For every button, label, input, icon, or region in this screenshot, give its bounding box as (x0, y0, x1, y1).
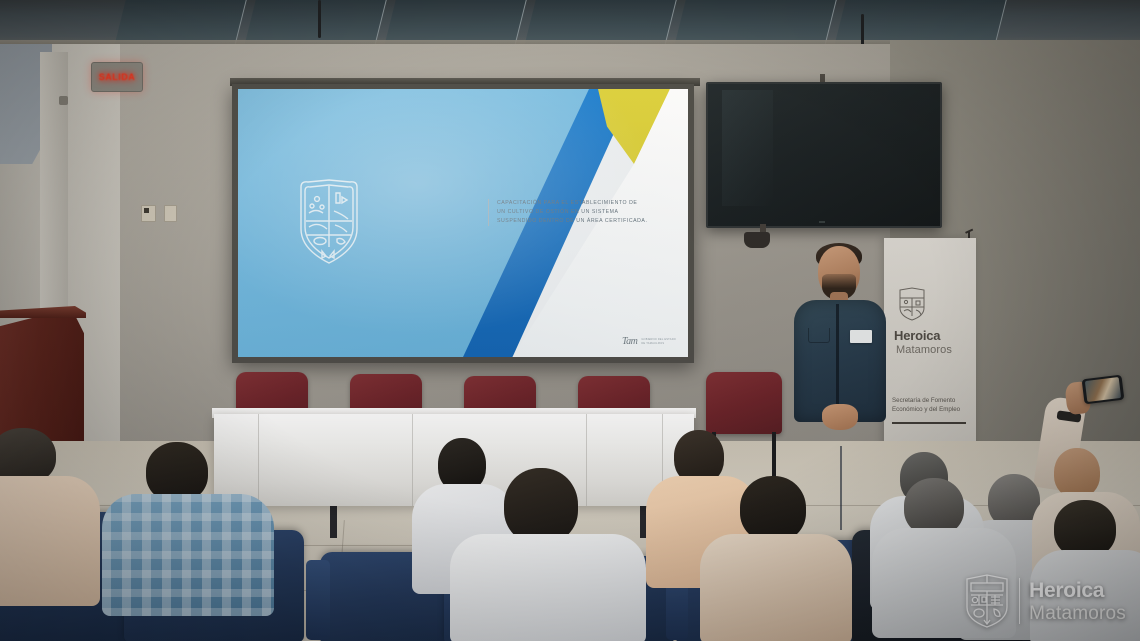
wall-switch-icon (164, 205, 177, 222)
presenter (790, 246, 894, 536)
tablecloth-fold (258, 414, 259, 506)
seat-armrest (306, 560, 330, 640)
audience-head (146, 442, 208, 502)
tv-screen-glare (722, 90, 773, 206)
watermark-subtitle: Matamoros (1029, 604, 1126, 623)
tablecloth-fold (586, 414, 587, 506)
watermark-divider (1019, 578, 1020, 624)
audience-head (740, 476, 806, 542)
banner-department-line-2: Económico y del Empleo (892, 406, 960, 413)
presenter-clasped-hands (822, 404, 858, 430)
presenter-trouser-seam (840, 446, 842, 530)
slide-title-block: CAPACITACIÓN PARA EL ESTABLECIMIENTO DE … (488, 199, 679, 226)
slide-title-line-1: CAPACITACIÓN PARA EL ESTABLECIMIENTO DE (497, 199, 679, 208)
slide-logo-wordmark: Tam (622, 336, 637, 347)
tamaulipas-coat-of-arms-icon (296, 177, 362, 267)
smartphone-screen (1085, 377, 1121, 402)
audience-head (1054, 448, 1100, 498)
banner-department-line-1: Secretaría de Fomento (892, 397, 955, 404)
presenter-shirt-placket (836, 304, 839, 416)
presentation-slide: CAPACITACIÓN PARA EL ESTABLECIMIENTO DE … (238, 89, 688, 357)
slide-logo-caption: GOBIERNO DEL ESTADO DE TAMAULIPAS (641, 338, 676, 346)
wall-mounted-tv (706, 82, 942, 228)
matamoros-shield-icon (964, 573, 1010, 629)
tablecloth-fold (412, 414, 413, 506)
banner-title: Heroica (894, 328, 940, 343)
head-table-chair (706, 372, 782, 434)
banner-department: Secretaría de Fomento Económico y del Em… (892, 396, 972, 415)
slide-title-line-3: SUSPENDIDO DENTRO DE UN ÁREA CERTIFICADA… (497, 217, 679, 226)
watermark-title: Heroica (1029, 580, 1126, 601)
slide-logo-caption-line-2: DE TAMAULIPAS (641, 342, 664, 345)
presentation-photo: SALIDA (0, 0, 1140, 641)
slide-government-logo: Tam GOBIERNO DEL ESTADO DE TAMAULIPAS (622, 336, 676, 347)
ceiling-cable (318, 0, 321, 38)
exit-sign-label: SALIDA (95, 66, 139, 88)
exit-sign: SALIDA (91, 62, 143, 92)
audience-head (504, 468, 578, 544)
audience-plaid-shirt (102, 494, 274, 616)
heroica-matamoros-watermark: Heroica Matamoros (964, 573, 1126, 629)
wall-outlet-icon (141, 205, 156, 222)
podium (0, 308, 84, 448)
audience-torso (450, 534, 646, 641)
banner-divider (892, 422, 966, 424)
presenter-name-badge (850, 330, 872, 343)
banner-subtitle: Matamoros (896, 344, 952, 356)
wall-speaker-icon (59, 96, 68, 105)
smartphone-camera (1082, 375, 1125, 405)
audience-torso (0, 476, 100, 606)
tv-power-led-icon (819, 221, 825, 223)
slide-logo-caption-line-1: GOBIERNO DEL ESTADO (641, 338, 676, 341)
presenter-shirt-pocket (808, 328, 830, 343)
matamoros-coat-of-arms-icon (898, 286, 926, 322)
audience-torso (700, 534, 852, 641)
ceiling-projector (744, 232, 770, 248)
slide-title-line-2: UN CULTIVO DE OSTIÓN EN UN SISTEMA (497, 208, 679, 217)
watermark-text: Heroica Matamoros (1029, 580, 1126, 623)
